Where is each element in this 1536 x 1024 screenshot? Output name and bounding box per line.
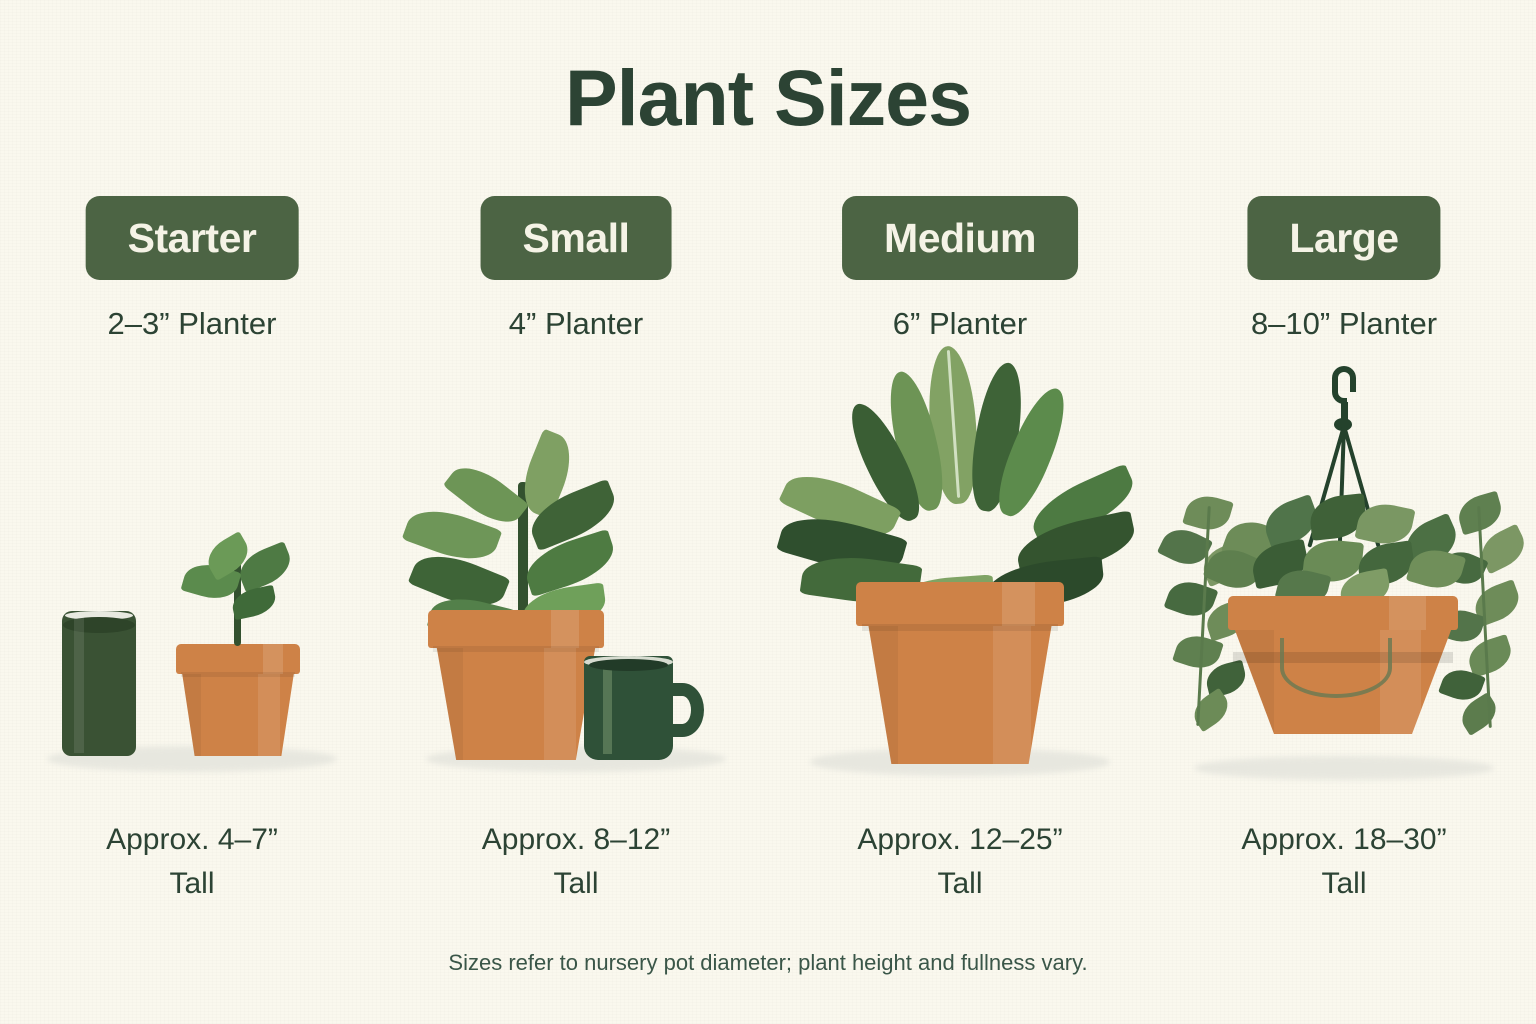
soda-can-scale-reference xyxy=(62,611,136,756)
badge-starter[interactable]: Starter xyxy=(86,196,299,280)
footnote: Sizes refer to nursery pot diameter; pla… xyxy=(0,950,1536,976)
caption-line-1: Approx. 4–7” Tall xyxy=(106,823,278,900)
badge-large[interactable]: Large xyxy=(1247,196,1440,280)
size-column-small: Small 4” Planter xyxy=(384,196,768,986)
badge-small[interactable]: Small xyxy=(481,196,672,280)
planter-size-large: 8–10” Planter xyxy=(1152,306,1536,342)
leaf xyxy=(1464,634,1516,678)
caption-line-1: Approx. 18–30” Tall xyxy=(1241,823,1446,900)
planter-size-starter: 2–3” Planter xyxy=(0,306,384,342)
height-caption-starter: Approx. 4–7” Tall xyxy=(0,818,384,905)
illustration-starter xyxy=(0,364,384,794)
page-title: Plant Sizes xyxy=(0,52,1536,144)
size-column-medium: Medium 6” Planter xyxy=(768,196,1152,986)
planter-size-medium: 6” Planter xyxy=(768,306,1152,342)
basket-top-foliage xyxy=(1208,496,1480,608)
height-caption-medium: Approx. 12–25” Tall xyxy=(768,818,1152,905)
hanging-hook xyxy=(1328,366,1362,424)
coffee-mug-scale-reference xyxy=(584,656,704,760)
badge-medium[interactable]: Medium xyxy=(842,196,1078,280)
planter-size-small: 4” Planter xyxy=(384,306,768,342)
terracotta-pot-medium xyxy=(856,582,1064,764)
terracotta-pot-small xyxy=(428,610,604,760)
size-column-starter: Starter 2–3” Planter xyxy=(0,196,384,986)
terracotta-pot-starter xyxy=(176,644,300,756)
size-column-large: Large 8–10” Planter xyxy=(1152,196,1536,986)
seedling-plant xyxy=(176,536,300,646)
height-caption-large: Approx. 18–30” Tall xyxy=(1152,818,1536,905)
illustration-small xyxy=(384,364,768,794)
caption-line-1: Approx. 8–12” Tall xyxy=(482,823,670,900)
infographic-page: Plant Sizes Starter 2–3” Planter xyxy=(0,0,1536,1024)
basket-wire-handle xyxy=(1280,638,1392,698)
height-caption-small: Approx. 8–12” Tall xyxy=(384,818,768,905)
illustration-medium xyxy=(768,364,1152,794)
ground-shadow xyxy=(1194,756,1494,780)
size-columns: Starter 2–3” Planter xyxy=(0,196,1536,986)
caption-line-1: Approx. 12–25” Tall xyxy=(857,823,1062,900)
illustration-large xyxy=(1152,364,1536,794)
